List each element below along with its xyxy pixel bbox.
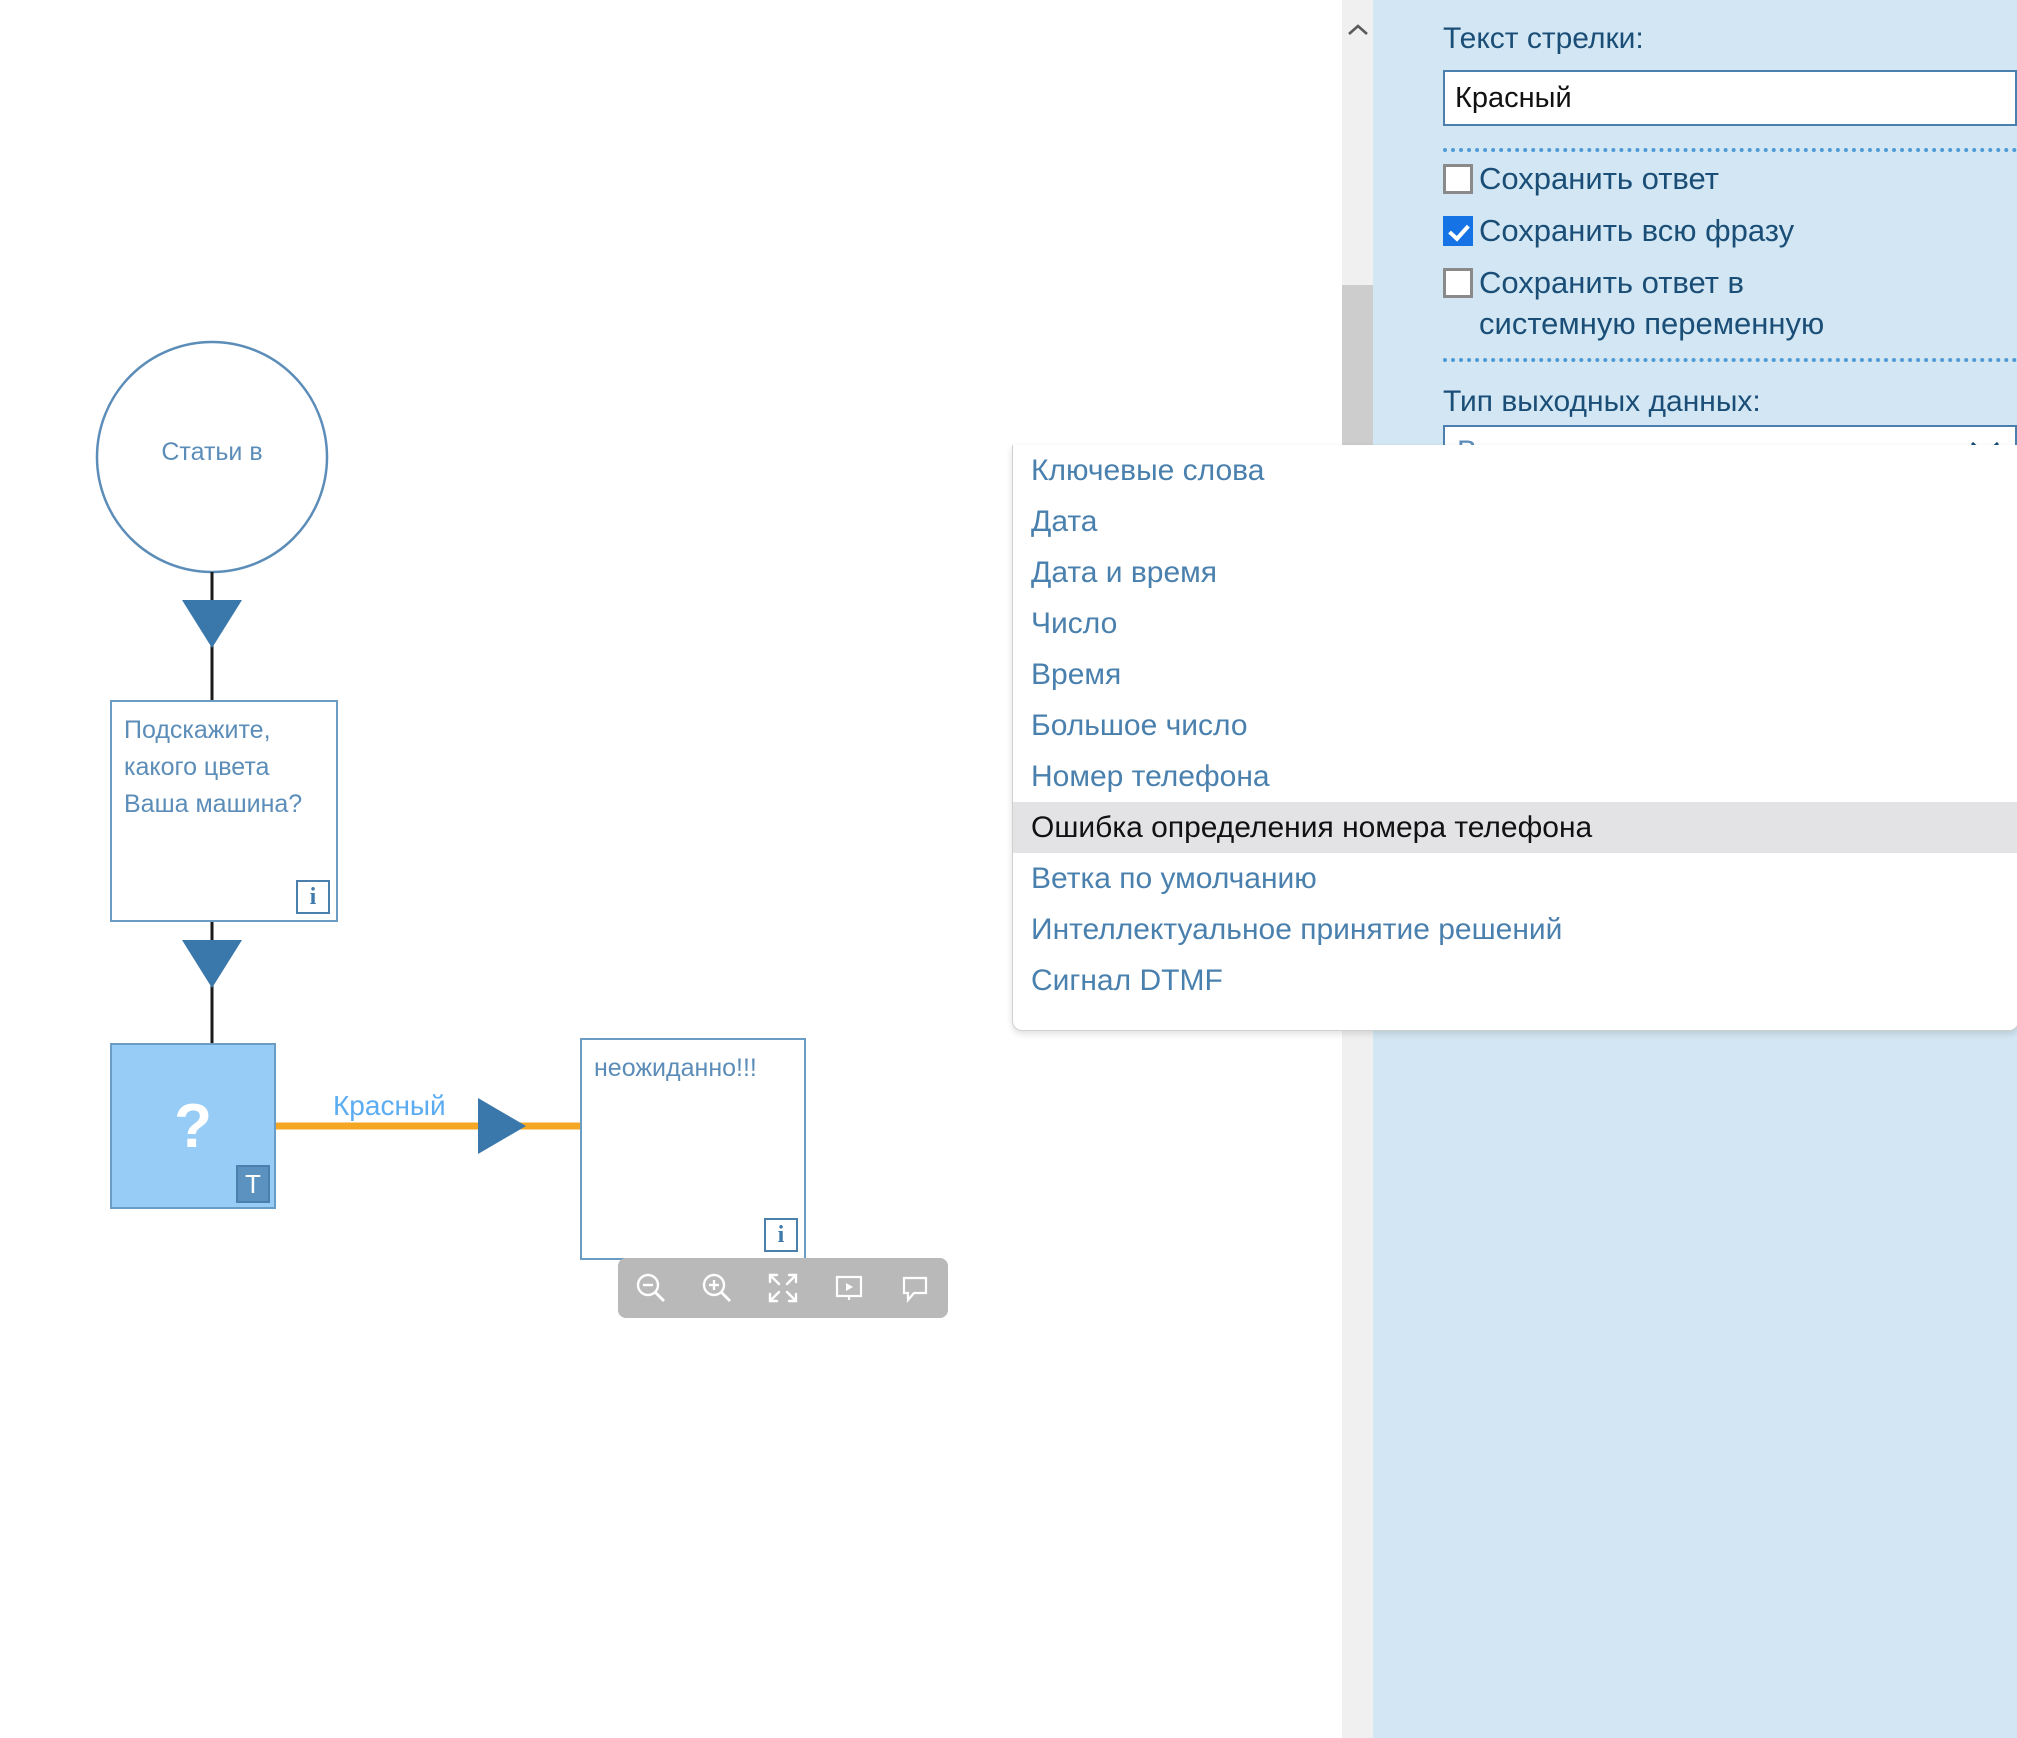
arrowhead-right [478, 1098, 526, 1154]
arrowhead-down-2 [182, 940, 242, 988]
dropdown-option[interactable]: Сигнал DTMF [1013, 955, 2017, 1006]
info-icon[interactable]: i [296, 880, 330, 914]
chevron-up-icon [1347, 23, 1369, 37]
checkbox-save-phrase[interactable] [1443, 216, 1473, 246]
panel-scrollbar-lower[interactable] [1342, 1030, 1373, 1738]
zoom-out-icon [633, 1270, 669, 1306]
dropdown-option[interactable]: Дата [1013, 496, 2017, 547]
checkbox-label-save-answer: Сохранить ответ [1479, 158, 1719, 199]
dropdown-option[interactable]: Ключевые слова [1013, 445, 2017, 496]
checkbox-save-answer[interactable] [1443, 164, 1473, 194]
message-node-1-text: Подскажите, какого цвета Ваша машина? [124, 712, 328, 823]
checkbox-label-save-to-system-variable: Сохранить ответ в системную переменную [1479, 262, 1824, 344]
info-icon[interactable]: i [764, 1218, 798, 1252]
checkbox-row-save-to-system-variable[interactable]: Сохранить ответ в системную переменную [1443, 262, 1824, 344]
dropdown-option[interactable]: Ветка по умолчанию [1013, 853, 2017, 904]
presentation-button[interactable] [816, 1258, 882, 1318]
edge-label: Красный [333, 1090, 446, 1122]
message-node-1[interactable]: Подскажите, какого цвета Ваша машина? i [110, 700, 338, 922]
app-root: Статьи в Подскажите, какого цвета Ваша м… [0, 0, 2017, 1738]
start-node-label: Статьи в [96, 438, 328, 467]
dropdown-option[interactable]: Дата и время [1013, 547, 2017, 598]
arrow-text-label: Текст стрелки: [1443, 22, 1644, 56]
scroll-up-button[interactable] [1342, 0, 1373, 60]
arrowhead-down-1 [182, 600, 242, 648]
zoom-out-button[interactable] [618, 1258, 684, 1318]
presentation-icon [831, 1270, 867, 1306]
fit-screen-icon [765, 1270, 801, 1306]
text-input-icon[interactable]: T [236, 1165, 270, 1203]
checkbox-save-to-system-variable[interactable] [1443, 268, 1473, 298]
comment-button[interactable] [882, 1258, 948, 1318]
dropdown-option[interactable]: Большое число [1013, 700, 2017, 751]
message-node-2[interactable]: неожиданно!!! i [580, 1038, 806, 1260]
question-node[interactable]: ? T [110, 1043, 276, 1209]
separator-1 [1443, 148, 2017, 152]
panel-content-lower [1373, 1030, 2017, 1738]
arrow-text-input[interactable] [1443, 70, 2017, 126]
comment-icon [897, 1270, 933, 1306]
checkbox-row-save-answer[interactable]: Сохранить ответ [1443, 158, 1719, 199]
dropdown-option[interactable]: Число [1013, 598, 2017, 649]
separator-2 [1443, 358, 2017, 362]
message-node-2-text: неожиданно!!! [594, 1050, 796, 1087]
dropdown-option[interactable]: Ошибка определения номера телефона [1013, 802, 2017, 853]
zoom-in-button[interactable] [684, 1258, 750, 1318]
zoom-in-icon [699, 1270, 735, 1306]
checkbox-row-save-phrase[interactable]: Сохранить всю фразу [1443, 210, 1794, 251]
output-type-dropdown[interactable]: Ключевые словаДатаДата и времяЧислоВремя… [1012, 445, 2017, 1031]
fit-screen-button[interactable] [750, 1258, 816, 1318]
checkbox-label-save-phrase: Сохранить всю фразу [1479, 210, 1794, 251]
canvas-toolbar [618, 1258, 948, 1318]
output-type-label: Тип выходных данных: [1443, 385, 1761, 419]
dropdown-option[interactable]: Время [1013, 649, 2017, 700]
dropdown-option[interactable]: Номер телефона [1013, 751, 2017, 802]
dropdown-option[interactable]: Интеллектуальное принятие решений [1013, 904, 2017, 955]
